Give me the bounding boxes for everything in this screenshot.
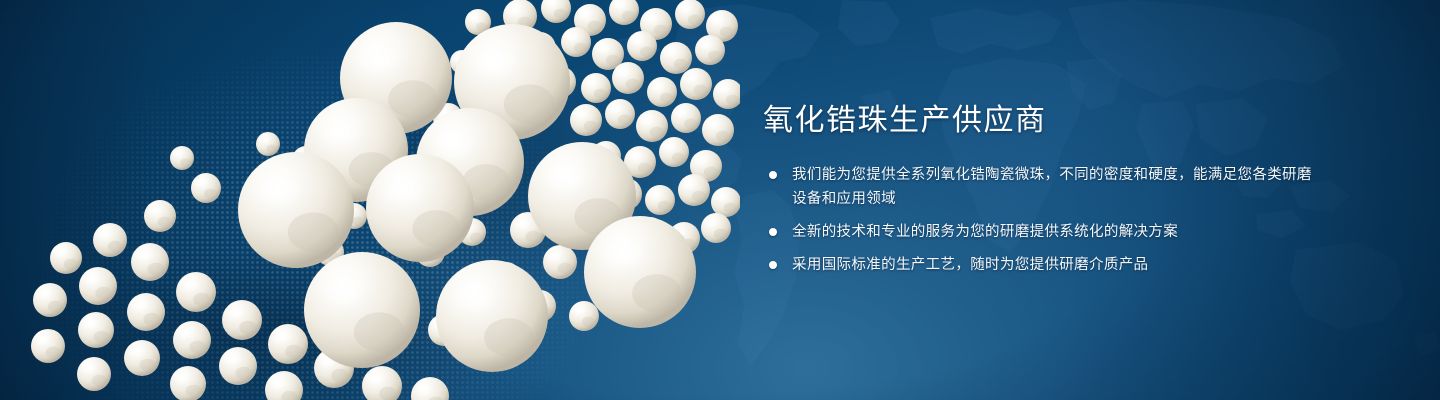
list-item: 采用国际标准的生产工艺，随时为您提供研磨介质产品 — [763, 253, 1323, 277]
bullet-text: 采用国际标准的生产工艺，随时为您提供研磨介质产品 — [792, 253, 1323, 277]
hero-banner: 氧化锆珠生产供应商 我们能为您提供全系列氧化锆陶瓷微珠，不同的密度和硬度，能满足… — [0, 0, 1440, 400]
bullet-text: 我们能为您提供全系列氧化锆陶瓷微珠，不同的密度和硬度，能满足您各类研磨设备和应用… — [792, 163, 1323, 211]
list-item: 全新的技术和专业的服务为您的研磨提供系统化的解决方案 — [763, 220, 1323, 244]
banner-headline: 氧化锆珠生产供应商 — [763, 104, 1323, 137]
banner-copy: 氧化锆珠生产供应商 我们能为您提供全系列氧化锆陶瓷微珠，不同的密度和硬度，能满足… — [763, 104, 1323, 277]
bullet-text: 全新的技术和专业的服务为您的研磨提供系统化的解决方案 — [792, 220, 1323, 244]
bullet-dot-icon — [769, 228, 777, 236]
bullet-dot-icon — [769, 261, 777, 269]
zirconia-beads-image — [0, 0, 740, 400]
bullet-dot-icon — [769, 171, 777, 179]
banner-bullet-list: 我们能为您提供全系列氧化锆陶瓷微珠，不同的密度和硬度，能满足您各类研磨设备和应用… — [763, 163, 1323, 277]
list-item: 我们能为您提供全系列氧化锆陶瓷微珠，不同的密度和硬度，能满足您各类研磨设备和应用… — [763, 163, 1323, 211]
